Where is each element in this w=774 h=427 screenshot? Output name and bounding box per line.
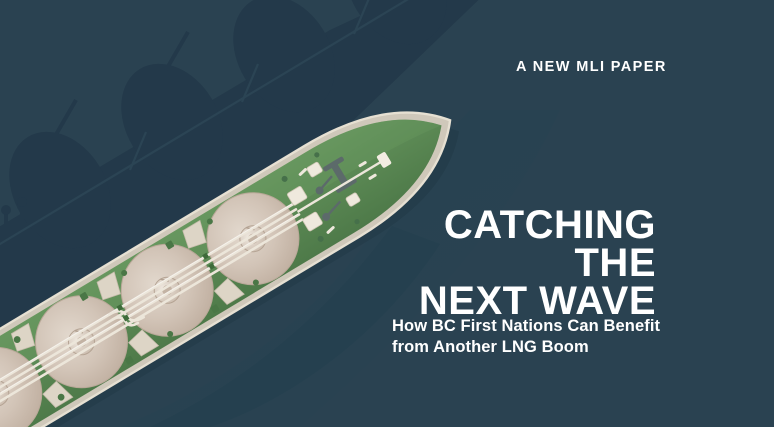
page-title: CATCHING THE NEXT WAVE bbox=[300, 206, 656, 320]
title-line-1: CATCHING bbox=[300, 206, 656, 244]
page-subtitle: How BC First Nations Can Benefit from An… bbox=[300, 316, 656, 358]
title-line-3: NEXT WAVE bbox=[300, 282, 656, 320]
subtitle-line-2: from Another LNG Boom bbox=[392, 337, 656, 358]
subtitle-line-1: How BC First Nations Can Benefit bbox=[392, 316, 656, 337]
kicker-label: A NEW MLI PAPER bbox=[516, 59, 667, 75]
title-line-2: THE bbox=[300, 244, 656, 282]
poster-canvas: A NEW MLI PAPER CATCHING THE NEXT WAVE H… bbox=[0, 0, 774, 427]
